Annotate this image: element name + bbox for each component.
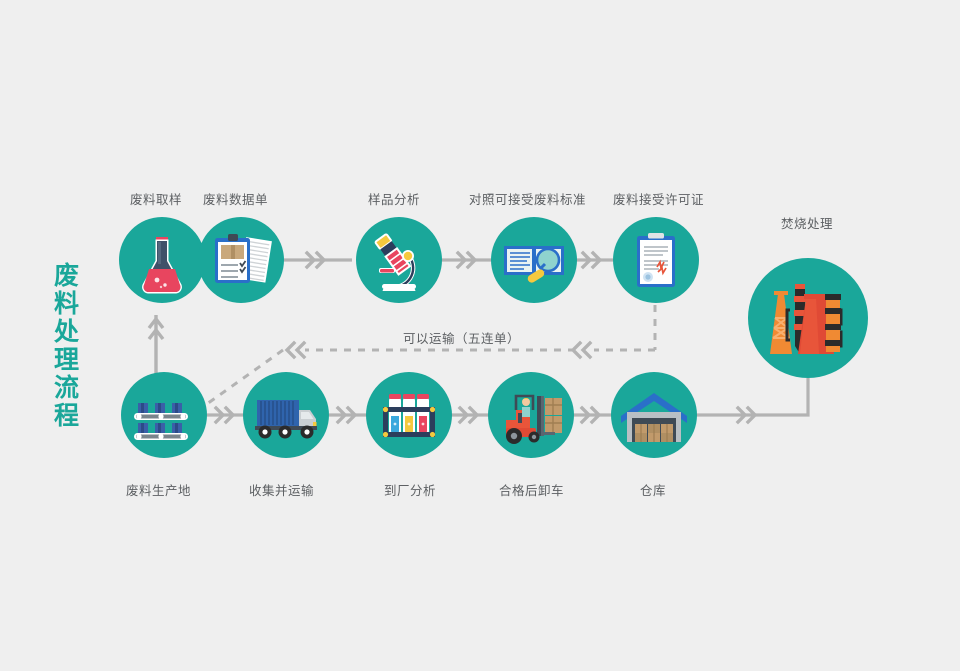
connector-bottom-4-5 [573,408,612,422]
node-warehouse[interactable] [611,372,697,458]
test-tube-rack-icon [366,372,452,458]
label-waste-production-site: 废料生产地 [126,484,191,499]
label-waste-acceptance-permit: 废料接受许可证 [613,193,704,208]
node-waste-sampling[interactable] [119,217,205,303]
clipboard-checklist-icon [198,217,284,303]
label-incineration: 焚烧处理 [781,217,833,232]
label-transport-allowed-note: 可以运输（五连单） [403,328,520,347]
forklift-icon [488,372,574,458]
label-waste-data-sheet: 废料数据单 [203,193,268,208]
node-factory-analysis[interactable] [366,372,452,458]
node-sample-analysis[interactable] [356,217,442,303]
erlenmeyer-flask-icon [119,217,205,303]
label-warehouse: 仓库 [640,484,666,499]
label-waste-acceptance-criteria: 对照可接受废料标准 [469,193,586,208]
flowchart-canvas: 废料处理流程 [0,0,960,671]
label-collect-and-transport: 收集并运输 [249,484,314,499]
connector-warehouse-to-incineration [695,378,808,422]
node-collect-and-transport[interactable] [243,372,329,458]
node-waste-acceptance-permit[interactable] [613,217,699,303]
connector-bottom-1-2 [207,408,246,422]
node-waste-data-sheet[interactable] [198,217,284,303]
node-unload-after-qualification[interactable] [488,372,574,458]
book-magnifier-icon [491,217,577,303]
node-waste-acceptance-criteria[interactable] [491,217,577,303]
warehouse-icon [611,372,697,458]
connector-top-1-2 [282,253,352,267]
node-incineration[interactable] [748,258,868,378]
label-sample-analysis: 样品分析 [368,193,420,208]
connector-bottom-3-4 [451,408,490,422]
connector-top-2-3 [438,253,492,267]
label-waste-sampling: 废料取样 [130,193,182,208]
connector-bottom-2-3 [329,408,368,422]
label-unload-after-qualification: 合格后卸车 [499,484,564,499]
node-waste-production-site[interactable] [121,372,207,458]
container-truck-icon [243,372,329,458]
microscope-icon [356,217,442,303]
label-factory-analysis: 到厂分析 [384,484,436,499]
connector-top-3-4 [573,253,613,267]
certificate-icon [613,217,699,303]
conveyor-belt-icon [121,372,207,458]
incineration-plant-icon [748,258,868,378]
dashed-return-right [594,305,655,350]
page-title: 废料处理流程 [46,262,88,430]
